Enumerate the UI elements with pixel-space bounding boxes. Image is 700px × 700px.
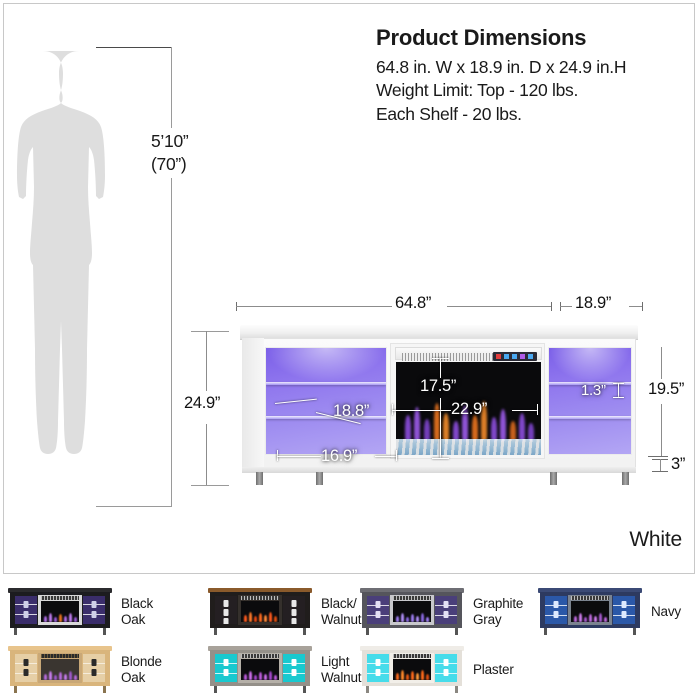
interior-height-line-lower <box>661 404 662 456</box>
left-led-glow <box>266 348 386 382</box>
swatch-label-blonde-oak: Blonde Oak <box>121 654 162 686</box>
shelf-width-right-cap <box>396 450 397 461</box>
width-line-left <box>236 306 394 307</box>
leg-height-bottom-cap <box>652 471 669 472</box>
height-line-lower <box>206 424 207 485</box>
main-finish-label: White <box>629 528 682 552</box>
display-indicator-purple <box>520 354 525 359</box>
firebox-width-line-right <box>512 410 538 411</box>
width-right-cap <box>551 302 552 311</box>
display-indicator-red <box>496 354 501 359</box>
swatch-label-black-walnut: Black/ Walnut <box>321 596 361 628</box>
product-illustration-white <box>232 325 644 485</box>
swatch-image-plaster <box>360 646 464 694</box>
cabinet-leg-left <box>256 472 263 485</box>
depth-line-right <box>629 306 643 307</box>
human-scale-silhouette <box>14 47 144 507</box>
height-bottom-tick <box>191 485 229 486</box>
cabinet-top-surface <box>240 325 638 339</box>
cabinet-base <box>242 467 636 473</box>
shelf-width-line-right <box>375 456 397 457</box>
cabinet-leg-right <box>622 472 629 485</box>
depth-label: 18.9” <box>572 294 614 313</box>
height-top-tick <box>191 331 229 332</box>
swatch-black-walnut[interactable]: Black/ Walnut <box>208 588 361 636</box>
height-label: 24.9” <box>181 394 223 413</box>
firebox-width-line-left <box>392 410 451 411</box>
firebox-height-label: 17.5” <box>417 377 459 396</box>
swatch-image-navy <box>538 588 642 636</box>
firebox-height-line-lower <box>440 398 441 458</box>
display-indicator-blue-2 <box>512 354 517 359</box>
fireplace-vent-grille <box>402 353 494 361</box>
page-title: Product Dimensions <box>376 26 686 50</box>
width-line-right <box>447 306 552 307</box>
cabinet-leg-center-right <box>550 472 557 485</box>
interior-height-label: 19.5” <box>645 380 687 399</box>
cabinet-left-side-panel <box>242 338 264 468</box>
swatch-image-blonde-oak <box>8 646 112 694</box>
dimensions-summary: 64.8 in. W x 18.9 in. D x 24.9 in.H <box>376 56 686 79</box>
person-height-top-tick <box>96 47 172 48</box>
swatch-plaster[interactable]: Plaster <box>360 646 514 694</box>
swatch-graphite-gray[interactable]: Graphite Gray <box>360 588 523 636</box>
person-height-bottom-tick <box>96 506 172 507</box>
swatch-image-graphite-gray <box>360 588 464 636</box>
fireplace-display <box>493 352 537 361</box>
swatch-image-black-oak <box>8 588 112 636</box>
shelf-width-line-left <box>277 456 321 457</box>
depth-right-cap <box>642 302 643 311</box>
swatch-label-graphite-gray: Graphite Gray <box>473 596 523 628</box>
fireplace-control-panel[interactable] <box>395 347 542 360</box>
swatch-label-navy: Navy <box>651 604 681 620</box>
swatch-label-plaster: Plaster <box>473 662 514 678</box>
header-block: Product Dimensions 64.8 in. W x 18.9 in.… <box>376 26 686 126</box>
interior-height-line-upper <box>661 347 662 379</box>
swatch-label-black-oak: Black Oak <box>121 596 153 628</box>
swatch-label-light-walnut: Light Walnut <box>321 654 361 686</box>
cabinet-leg-center-left <box>316 472 323 485</box>
shelf-width-label: 16.9” <box>318 447 360 466</box>
height-line-upper <box>206 331 207 391</box>
swatch-light-walnut[interactable]: Light Walnut <box>208 646 361 694</box>
shelf-thickness-line <box>618 383 619 397</box>
swatch-image-light-walnut <box>208 646 312 694</box>
leg-height-line <box>660 459 661 471</box>
crystal-ember-bed <box>396 439 541 455</box>
width-label: 64.8” <box>392 294 434 313</box>
firebox-width-label: 22.9” <box>448 400 490 419</box>
firebox-height-bottom-cap <box>432 458 449 459</box>
left-shelf-upper <box>266 382 386 385</box>
firebox-width-right-cap <box>537 404 538 415</box>
right-shelf-lower <box>549 416 631 419</box>
weight-limit-top: Weight Limit: Top - 120 lbs. <box>376 79 686 102</box>
leg-height-label: 3” <box>668 455 688 474</box>
weight-limit-shelf: Each Shelf - 20 lbs. <box>376 103 686 126</box>
swatch-navy[interactable]: Navy <box>538 588 681 636</box>
firebox-height-line-upper <box>440 358 441 378</box>
person-height-dimension-line <box>171 47 172 507</box>
swatch-black-oak[interactable]: Black Oak <box>8 588 153 636</box>
person-height-feet: 5’10” <box>151 130 188 153</box>
person-height-label: 5’10” (70”) <box>148 128 191 178</box>
shelf-thickness-cap-bottom <box>613 397 624 398</box>
swatch-blonde-oak[interactable]: Blonde Oak <box>8 646 162 694</box>
shelf-thickness-label: 1.3” <box>578 382 609 399</box>
right-led-glow <box>549 348 631 382</box>
display-indicator-blue-3 <box>528 354 533 359</box>
left-glass-compartment <box>265 347 387 455</box>
person-height-inches: (70”) <box>151 153 188 176</box>
display-indicator-blue <box>504 354 509 359</box>
right-glass-compartment <box>548 347 632 455</box>
finish-swatch-grid: Black Oak <box>0 584 700 700</box>
swatch-image-black-walnut <box>208 588 312 636</box>
